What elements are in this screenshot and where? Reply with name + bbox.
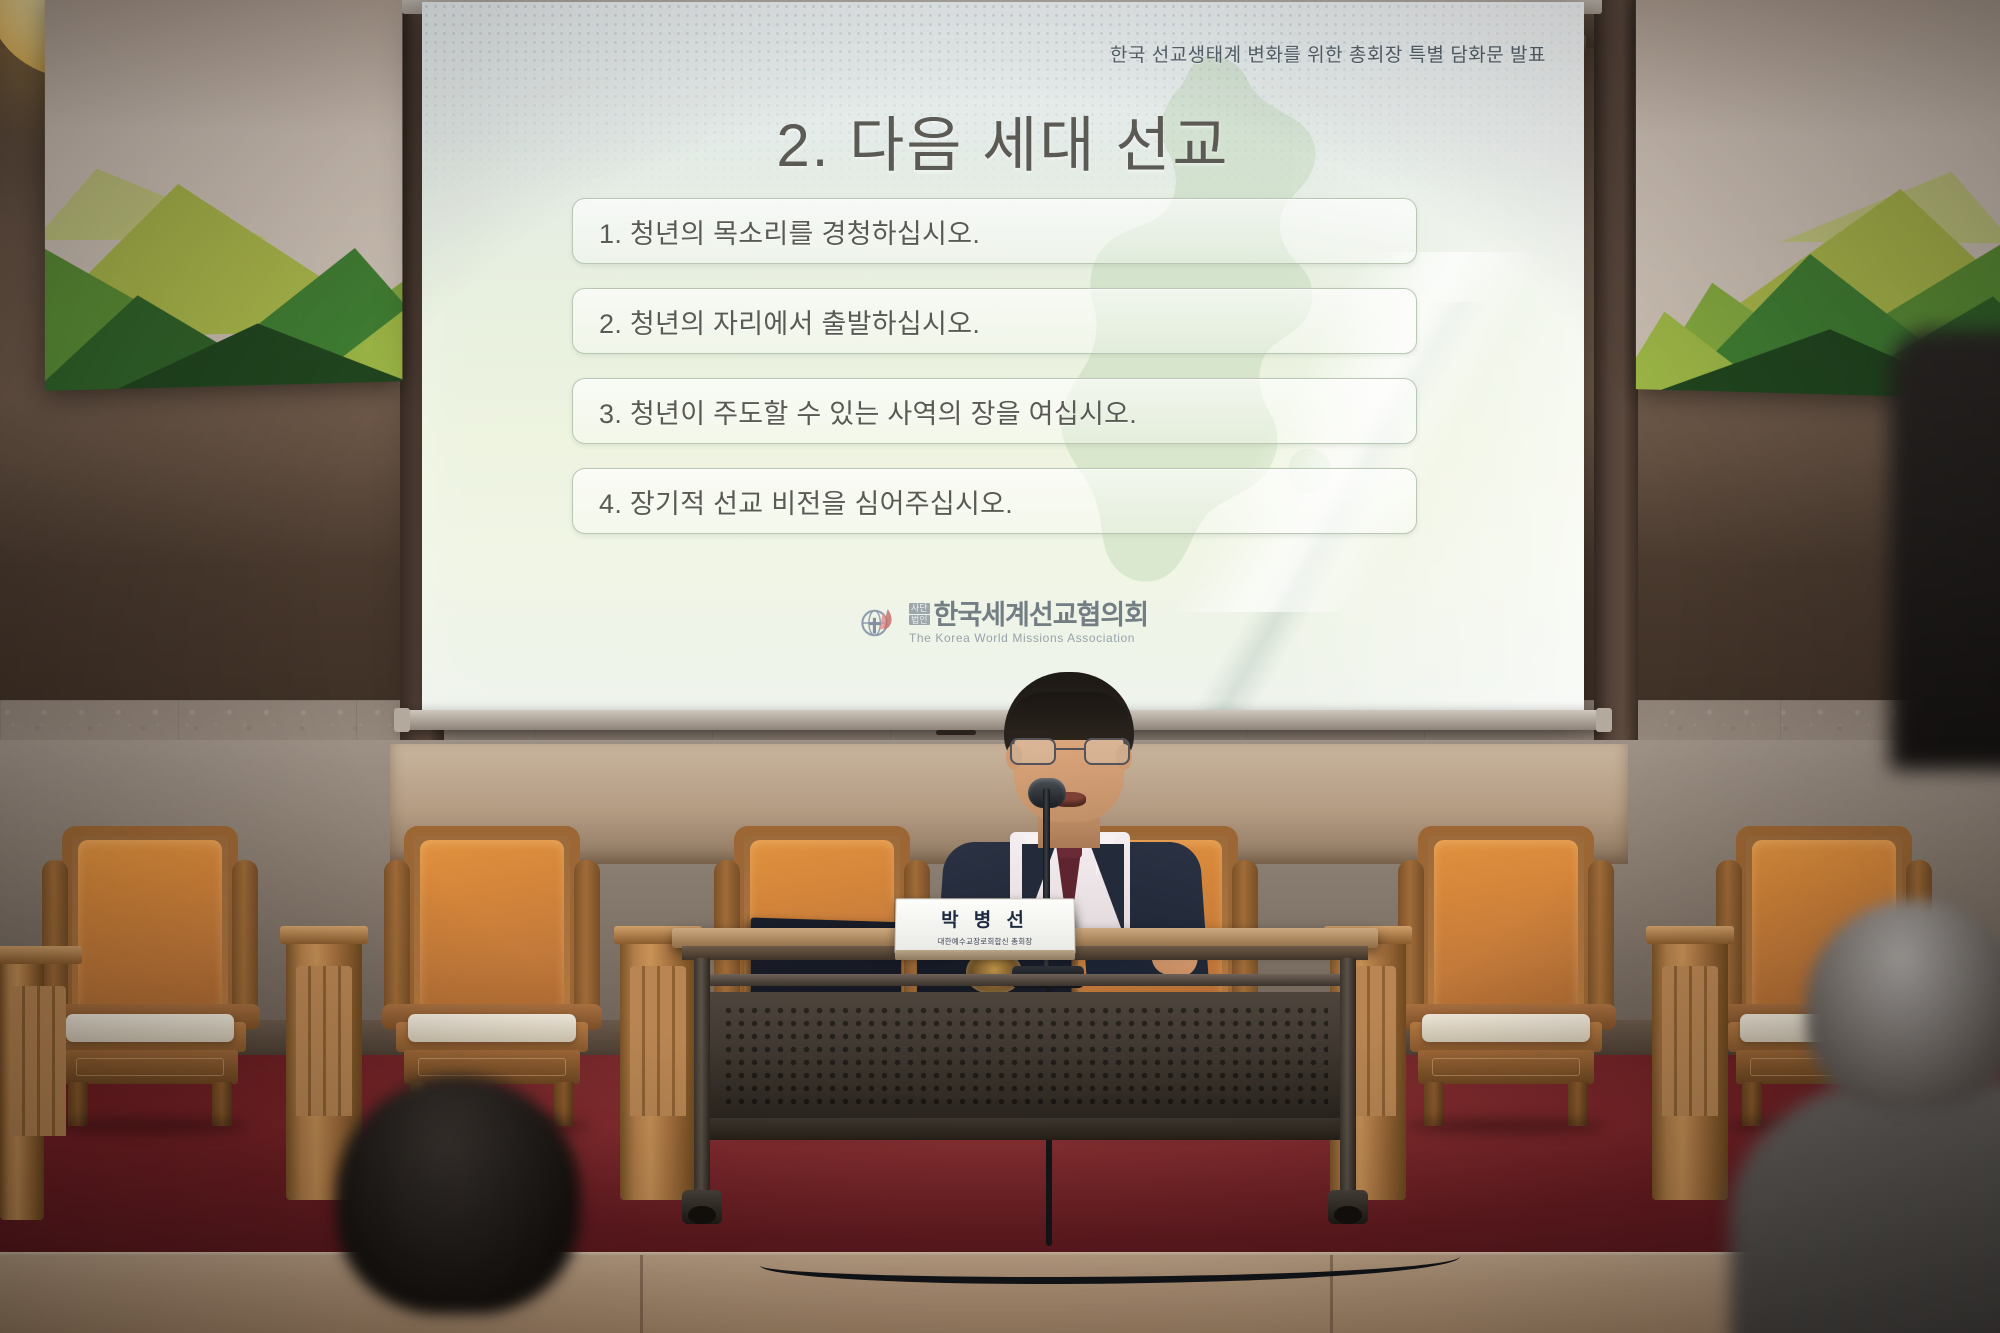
badge-line-1: 사단 [909,603,930,613]
table-caster-left [682,1190,722,1224]
bullet-item-3: 3. 청년이 주도할 수 있는 사역의 장을 여십시오. [572,378,1417,444]
nameplate-stand [895,950,1075,960]
globe-flame-icon [858,602,900,644]
podium-table [672,928,1378,1258]
nameplate-subtitle: 대한예수교장로회합신 총회장 [937,936,1032,947]
bullet-text-4: 4. 장기적 선교 비전을 심어주십시오. [573,482,1013,521]
nameplate-name: 박 병 선 [941,905,1029,932]
perforated-panel-texture [722,1004,1328,1108]
logo-english-name: The Korea World Missions Association [909,632,1148,644]
badge-line-2: 법인 [909,615,930,625]
slide-header-text: 한국 선교생태계 변화를 위한 총회장 특별 담화문 발표 [1110,40,1546,67]
corporation-badge: 사단 법인 [909,603,930,629]
logo-korean-name: 한국세계선교협의회 [934,602,1149,629]
banner-left [45,0,403,391]
bullet-item-1: 1. 청년의 목소리를 경청하십시오. [572,198,1417,264]
slide-title: 2. 다음 세대 선교 [422,97,1584,184]
chair-divider-0 [0,960,44,1220]
audience-member-right-far [1890,330,2000,750]
logo-text-block: 사단 법인 한국세계선교협의회 The Korea World Missions… [909,602,1148,644]
table-modesty-panel [708,992,1342,1120]
bullet-text-2: 2. 청년의 자리에서 출발하십시오. [573,302,980,341]
bullet-item-2: 2. 청년의 자리에서 출발하십시오. [572,288,1417,354]
slide-bullet-list: 1. 청년의 목소리를 경청하십시오. 2. 청년의 자리에서 출발하십시오. … [572,198,1417,558]
table-rail [698,974,1352,986]
chair-divider-4 [1652,940,1728,1200]
bullet-item-4: 4. 장기적 선교 비전을 심어주십시오. [572,468,1417,534]
bullet-text-3: 3. 청년이 주도할 수 있는 사역의 장을 여십시오. [573,392,1137,431]
nameplate: 박 병 선 대한예수교장로회합신 총회장 [894,898,1075,954]
conference-hall-photo: 한국 선교생태계 변화를 위한 총회장 특별 담화문 발표 2. 다음 세대 선… [0,0,2000,1333]
table-caster-right [1328,1190,1368,1224]
eyeglasses-icon [1008,738,1132,766]
wall-pilaster-right [1594,0,1638,790]
projected-slide: 한국 선교생태계 변화를 위한 총회장 특별 담화문 발표 2. 다음 세대 선… [422,2,1584,714]
bullet-text-1: 1. 청년의 목소리를 경청하십시오. [573,212,980,251]
organization-logo: 사단 법인 한국세계선교협의회 The Korea World Missions… [422,602,1584,644]
audience-member-foreground [318,1076,598,1333]
audience-member-right [1760,900,2000,1333]
projection-screen-assembly: 한국 선교생태계 변화를 위한 총회장 특별 담화문 발표 2. 다음 세대 선… [422,0,1584,752]
